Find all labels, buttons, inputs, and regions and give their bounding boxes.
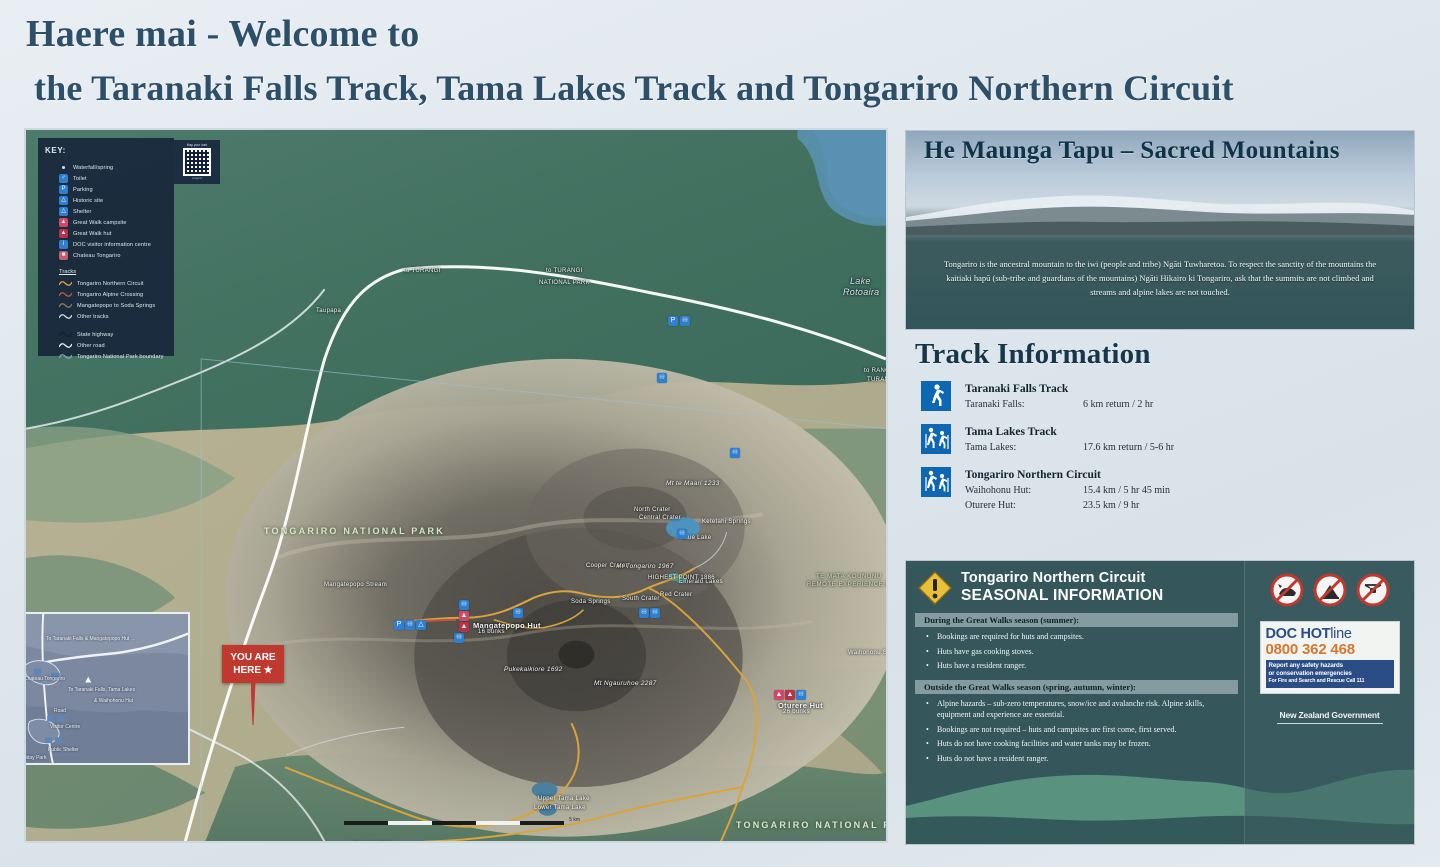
map-label: Pukekaikiore 1692 bbox=[504, 666, 563, 673]
key-item-label: Shelter bbox=[73, 209, 91, 215]
key-item-label: Great Walk campsite bbox=[73, 220, 127, 226]
map-label: REMOTE EXPERIENCE ZONE bbox=[807, 582, 888, 588]
hut-icon: ▲ bbox=[59, 229, 68, 238]
track-information-title: Track Information bbox=[915, 338, 1415, 371]
scale-segment bbox=[344, 821, 388, 825]
no-dogs-icon bbox=[1270, 573, 1304, 607]
key-track-label: Tongariro Northern Circuit bbox=[77, 281, 144, 287]
track-detail-value: 15.4 km / 5 hr 45 min bbox=[1083, 483, 1170, 498]
seasonal-header: Tongariro Northern Circuit SEASONAL INFO… bbox=[906, 561, 1246, 605]
key-track-label: Mangatepopo to Soda Springs bbox=[77, 303, 155, 309]
track-detail-value: 23.5 km / 9 hr bbox=[1083, 498, 1139, 513]
you-are-here-label: YOU ARE HERE ★ bbox=[222, 645, 284, 683]
scale-label: 5 km bbox=[569, 817, 580, 823]
seasonal-bullet-text: Huts have a resident ranger. bbox=[937, 660, 1026, 672]
key-item-label: Chateau Tongariro bbox=[73, 253, 121, 259]
key-item-label: Great Walk hut bbox=[73, 231, 112, 237]
seasonal-text-column: Tongariro Northern Circuit SEASONAL INFO… bbox=[906, 561, 1246, 844]
key-item: △Historic site bbox=[59, 195, 167, 206]
track-line-icon bbox=[59, 331, 72, 338]
map-icon-shelter: △ bbox=[416, 620, 426, 630]
track-list: Taranaki Falls TrackTaranaki Falls:6 km … bbox=[905, 381, 1415, 513]
track-line-icon bbox=[59, 291, 72, 298]
track-detail-row: Oturere Hut:23.5 km / 9 hr bbox=[965, 498, 1170, 513]
map-icon-toilet: ♾ bbox=[657, 373, 667, 383]
key-track-label: Tongariro Alpine Crossing bbox=[77, 292, 143, 298]
map-scale-bar: 5 km bbox=[344, 818, 564, 828]
key-track-item: Other tracks bbox=[59, 311, 167, 322]
map-label: South Crater bbox=[622, 596, 660, 602]
track-info-row: Tongariro Northern CircuitWaihohonu Hut:… bbox=[921, 467, 1415, 513]
map-label: Taupapa bbox=[316, 308, 341, 314]
key-item: Waterfall/spring bbox=[59, 162, 167, 173]
hotline-message: Report any safety hazards or conservatio… bbox=[1266, 660, 1394, 688]
key-item-label: DOC visitor information centre bbox=[73, 242, 151, 248]
page-header: Haere mai - Welcome to the Taranaki Fall… bbox=[0, 0, 1440, 118]
track-name: Tama Lakes Track bbox=[965, 425, 1174, 440]
track-detail-value: 17.6 km return / 5-6 hr bbox=[1083, 440, 1174, 455]
key-road-label: Other road bbox=[77, 343, 105, 349]
mountain-photo bbox=[906, 187, 1415, 235]
seasonal-section-heading: During the Great Walks season (summer): bbox=[915, 613, 1238, 627]
map-icon-toilet: ♾ bbox=[650, 608, 660, 618]
track-line-icon bbox=[59, 302, 72, 309]
key-item-label: Waterfall/spring bbox=[73, 165, 113, 171]
key-item: ♂Toilet bbox=[59, 173, 167, 184]
scale-segment bbox=[432, 821, 476, 825]
map-icon-toilet: ♾ bbox=[677, 529, 687, 539]
visitor-icon: i bbox=[59, 240, 68, 249]
map-icon-toilet: ♾ bbox=[680, 316, 690, 326]
map-icon-toilet: ♾ bbox=[513, 608, 523, 618]
qr-code-icon bbox=[183, 148, 211, 176]
key-item-label: Parking bbox=[73, 187, 93, 193]
inset-map-label: To Taranaki Falls & Mangatepopo Hut → bbox=[46, 636, 136, 642]
map-key-legend: KEY: Waterfall/spring♂ToiletPParking△His… bbox=[38, 138, 174, 356]
bullet-dot-icon: • bbox=[926, 724, 931, 736]
track-detail-label: Taranaki Falls: bbox=[965, 397, 1083, 412]
chateau-icon: ■ bbox=[59, 251, 68, 260]
you-are-here-pointer bbox=[251, 683, 256, 725]
seasonal-side-column: DOC HOTline 0800 362 468 Report any safe… bbox=[1244, 561, 1414, 844]
inset-map-label: To Taranaki Falls, Tama Lakes bbox=[68, 687, 135, 693]
track-line-icon bbox=[59, 353, 72, 360]
qr-code-box[interactable]: Map your hunt tongariro bbox=[174, 140, 220, 184]
trampers-icon bbox=[921, 467, 951, 497]
map-label: Waihohonu Stream bbox=[848, 650, 888, 656]
seasonal-bullet-text: Huts do not have a resident ranger. bbox=[937, 753, 1048, 765]
key-track-item: Tongariro Alpine Crossing bbox=[59, 289, 167, 300]
map-label: HIGHEST POINT 1886 bbox=[648, 575, 715, 581]
hotline-emergency-note: For Fire and Search and Rescue Call 111 bbox=[1269, 678, 1391, 686]
map-label: Ketetahi Springs bbox=[702, 519, 751, 525]
map-label: Taranaki Falls bbox=[353, 842, 394, 843]
map-label: TONGARIRO NATIONAL PARK bbox=[736, 820, 888, 830]
track-detail-row: Tama Lakes:17.6 km return / 5-6 hr bbox=[965, 440, 1174, 455]
seasonal-bullet: •Alpine hazards – sub-zero temperatures,… bbox=[926, 698, 1236, 721]
seasonal-bullet: •Huts do not have a resident ranger. bbox=[926, 753, 1236, 765]
hotline-number: 0800 362 468 bbox=[1266, 642, 1394, 658]
key-item: ▲Great Walk hut bbox=[59, 228, 167, 239]
map-label: to TURANGI bbox=[404, 268, 441, 274]
hotline-message-line-2: or conservation emergencies bbox=[1269, 670, 1352, 677]
map-icon-parking: P bbox=[394, 620, 404, 630]
map-label: Upper Tama Lake bbox=[538, 796, 590, 802]
map-panel[interactable]: to TURANGIto TURANGINATIONAL PARKTaupapa… bbox=[24, 128, 888, 843]
prohibition-icons bbox=[1245, 561, 1414, 607]
trampers-icon bbox=[921, 424, 951, 454]
page-title-line-2: the Taranaki Falls Track, Tama Lakes Tra… bbox=[26, 62, 1440, 114]
map-label: TONGARIRO NATIONAL PARK bbox=[264, 526, 445, 536]
key-item: iDOC visitor information centre bbox=[59, 239, 167, 250]
seasonal-section-heading: Outside the Great Walks season (spring, … bbox=[915, 680, 1238, 694]
map-label: Lake bbox=[850, 276, 871, 286]
map-icon-toilet: ♾ bbox=[454, 633, 464, 643]
map-label: to TURANGI bbox=[546, 268, 583, 274]
warning-icon bbox=[918, 571, 952, 605]
key-item-list: Waterfall/spring♂ToiletPParking△Historic… bbox=[45, 162, 167, 261]
bullet-dot-icon: • bbox=[926, 753, 931, 765]
track-line-icon bbox=[59, 313, 72, 320]
key-item: ■Chateau Tongariro bbox=[59, 250, 167, 261]
inset-map[interactable]: To Taranaki Falls & Mangatepopo Hut →To … bbox=[24, 612, 190, 765]
map-icon-campsite: ▲ bbox=[459, 611, 469, 621]
track-detail-label: Waihohonu Hut: bbox=[965, 483, 1083, 498]
map-label: Central Crater bbox=[639, 515, 681, 521]
map-label: TE MATA KOUNUNU bbox=[816, 574, 882, 580]
map-label: Red Crater bbox=[660, 592, 692, 598]
inset-map-label: Chateau Tongariro bbox=[24, 676, 65, 682]
bullet-dot-icon: • bbox=[926, 738, 931, 750]
map-icon-toilet: ♾ bbox=[796, 690, 806, 700]
map-label: Mt te Maari 1233 bbox=[666, 480, 720, 487]
track-name: Taranaki Falls Track bbox=[965, 382, 1153, 397]
dot-icon bbox=[59, 163, 68, 172]
track-detail-row: Waihohonu Hut:15.4 km / 5 hr 45 min bbox=[965, 483, 1170, 498]
seasonal-bullet: •Huts do not have cooking facilities and… bbox=[926, 738, 1236, 750]
scale-segment bbox=[388, 821, 432, 825]
no-drones-icon bbox=[1356, 573, 1390, 607]
hotline-title-line: line bbox=[1330, 626, 1351, 642]
sacred-mountains-panel: He Maunga Tapu – Sacred Mountains Tongar… bbox=[905, 130, 1415, 330]
bullet-dot-icon: • bbox=[926, 631, 931, 643]
hotline-message-line-1: Report any safety hazards bbox=[1269, 662, 1344, 669]
map-label: Rotoaira bbox=[843, 287, 879, 297]
seasonal-bullet: •Bookings are not required – huts and ca… bbox=[926, 724, 1236, 736]
map-icon-toilet: ♾ bbox=[459, 600, 469, 610]
qr-caption: Map your hunt bbox=[177, 143, 217, 147]
seasonal-bullet: •Huts have gas cooking stoves. bbox=[926, 646, 1236, 658]
map-label: to RANGIPO bbox=[864, 368, 888, 374]
walker-icon bbox=[921, 381, 951, 411]
seasonal-bullet: •Bookings are required for huts and camp… bbox=[926, 631, 1236, 643]
page-title-line-1: Haere mai - Welcome to bbox=[26, 6, 1440, 62]
track-detail-row: Taranaki Falls:6 km return / 2 hr bbox=[965, 397, 1153, 412]
no-camping-icon bbox=[1313, 573, 1347, 607]
map-icon-parking: P bbox=[668, 316, 678, 326]
track-info-row: Tama Lakes TrackTama Lakes:17.6 km retur… bbox=[921, 424, 1415, 455]
map-icon-campsite: ▲ bbox=[774, 690, 784, 700]
seasonal-bullet-text: Huts do not have cooking facilities and … bbox=[937, 738, 1151, 750]
map-label: Soda Springs bbox=[571, 599, 611, 605]
track-line-icon bbox=[59, 342, 72, 349]
shelter-icon: △ bbox=[59, 207, 68, 216]
sacred-mountains-title: He Maunga Tapu – Sacred Mountains bbox=[924, 137, 1340, 165]
track-detail-label: Tama Lakes: bbox=[965, 440, 1083, 455]
map-label: NATIONAL PARK bbox=[539, 280, 590, 286]
key-item-label: Historic site bbox=[73, 198, 103, 204]
map-icon-hut: ▲ bbox=[785, 690, 795, 700]
toilet-icon: ♂ bbox=[59, 174, 68, 183]
bullet-dot-icon: • bbox=[926, 660, 931, 672]
key-track-label: Other tracks bbox=[77, 314, 109, 320]
key-track-item: Mangatepopo to Soda Springs bbox=[59, 300, 167, 311]
hotline-title-doc-hot: DOC HOT bbox=[1266, 626, 1331, 642]
inset-map-label: Public Shelter bbox=[48, 747, 79, 753]
key-item: ▲Great Walk campsite bbox=[59, 217, 167, 228]
key-track-item: Tongariro Northern Circuit bbox=[59, 278, 167, 289]
track-name: Tongariro Northern Circuit bbox=[965, 468, 1170, 483]
key-item: PParking bbox=[59, 184, 167, 195]
key-road-label: Tongariro National Park boundary bbox=[77, 354, 164, 360]
bullet-dot-icon: • bbox=[926, 646, 931, 658]
map-label: Lower Tama Lake bbox=[534, 805, 586, 811]
key-road-item: Other road bbox=[59, 340, 167, 351]
track-detail-value: 6 km return / 2 hr bbox=[1083, 397, 1153, 412]
key-road-item: Tongariro National Park boundary bbox=[59, 351, 167, 362]
bullet-dot-icon: • bbox=[926, 698, 931, 721]
qr-footer: tongariro bbox=[177, 177, 217, 180]
sacred-mountains-body: Tongariro is the ancestral mountain to t… bbox=[934, 257, 1386, 299]
map-label: 16 bunks bbox=[478, 629, 505, 635]
track-info-row: Taranaki Falls TrackTaranaki Falls:6 km … bbox=[921, 381, 1415, 412]
seasonal-title-line-2: SEASONAL INFORMATION bbox=[961, 587, 1163, 605]
key-road-label: State highway bbox=[77, 332, 113, 338]
map-icon-toilet: ♾ bbox=[639, 608, 649, 618]
seasonal-title-line-1: Tongariro Northern Circuit bbox=[961, 570, 1163, 587]
map-icon-toilet: ♾ bbox=[730, 448, 740, 458]
doc-hotline-card: DOC HOTline 0800 362 468 Report any safe… bbox=[1260, 621, 1400, 694]
map-label: Mangatepopo Stream bbox=[324, 582, 387, 588]
inset-map-label: & Waihohonu Hut bbox=[94, 698, 133, 704]
seasonal-information-panel: Tongariro Northern Circuit SEASONAL INFO… bbox=[905, 560, 1415, 845]
map-label: 26 bunks bbox=[783, 709, 810, 715]
seasonal-bullet-text: Bookings are required for huts and camps… bbox=[937, 631, 1084, 643]
scale-segment bbox=[520, 821, 564, 825]
map-icon-toilet: ♾ bbox=[405, 620, 415, 630]
map-icon-hut: ▲ bbox=[459, 622, 469, 632]
map-label: Mt Ngauruhoe 2287 bbox=[594, 680, 657, 687]
key-item-label: Toilet bbox=[73, 176, 87, 182]
key-track-list: Tongariro Northern CircuitTongariro Alpi… bbox=[45, 278, 167, 322]
inset-map-label: Visitor Centre bbox=[50, 724, 80, 730]
inset-map-label: Holiday Park bbox=[24, 755, 46, 761]
seasonal-bullet-text: Bookings are not required – huts and cam… bbox=[937, 724, 1177, 736]
track-line-icon bbox=[59, 280, 72, 287]
track-detail-label: Oturere Hut: bbox=[965, 498, 1083, 513]
parking-icon: P bbox=[59, 185, 68, 194]
inset-map-label: Road bbox=[54, 708, 66, 714]
nz-government-logo: New Zealand Government bbox=[1245, 710, 1414, 720]
campsite-icon: ▲ bbox=[59, 218, 68, 227]
map-label: North Crater bbox=[634, 507, 671, 513]
seasonal-sections: During the Great Walks season (summer):•… bbox=[906, 613, 1246, 764]
historic-icon: △ bbox=[59, 196, 68, 205]
key-title: KEY: bbox=[45, 146, 167, 155]
map-label: Cooper Crater bbox=[586, 563, 628, 569]
scale-segment bbox=[476, 821, 520, 825]
seasonal-bullet: •Huts have a resident ranger. bbox=[926, 660, 1236, 672]
key-item: △Shelter bbox=[59, 206, 167, 217]
you-are-here-marker: YOU ARE HERE ★ bbox=[222, 645, 284, 725]
key-road-list: State highwayOther roadTongariro Nationa… bbox=[45, 329, 167, 362]
seasonal-bullet-text: Huts have gas cooking stoves. bbox=[937, 646, 1034, 658]
seasonal-bullet-text: Alpine hazards – sub-zero temperatures, … bbox=[937, 698, 1236, 721]
nz-government-rule bbox=[1277, 723, 1383, 724]
hotline-title: DOC HOTline bbox=[1266, 626, 1394, 642]
key-tracks-heading: Tracks bbox=[59, 269, 167, 275]
key-road-item: State highway bbox=[59, 329, 167, 340]
track-information-panel: Track Information Taranaki Falls TrackTa… bbox=[905, 336, 1415, 550]
map-label: TURANGI bbox=[867, 377, 888, 383]
